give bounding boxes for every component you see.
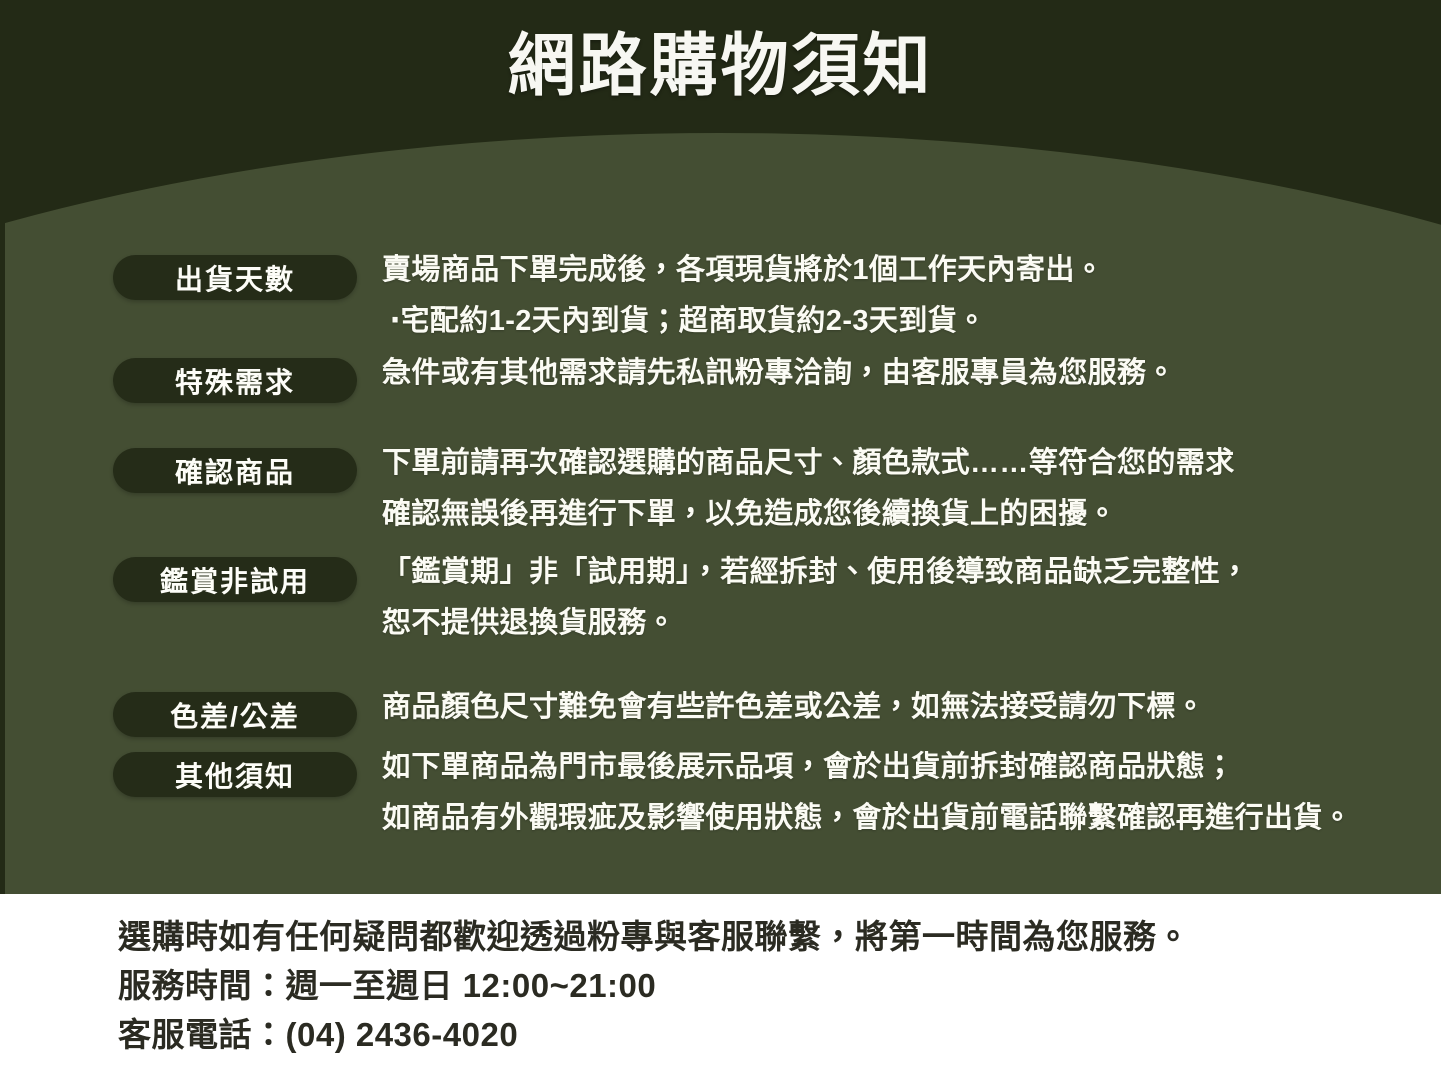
footer-service-hours: 服務時間：週一至週日 12:00~21:00	[118, 961, 1190, 1010]
section-body-line: 急件或有其他需求請先私訊粉專洽詢，由客服專員為您服務。	[382, 348, 1422, 399]
contact-footer-text: 選購時如有任何疑問都歡迎透過粉專與客服聯繫，將第一時間為您服務。 服務時間：週一…	[118, 912, 1190, 1059]
contact-footer: 選購時如有任何疑問都歡迎透過粉專與客服聯繫，將第一時間為您服務。 服務時間：週一…	[0, 894, 1441, 1080]
section-label-color-tolerance: 色差/公差	[113, 692, 357, 737]
section-body-line: 商品顏色尺寸難免會有些許色差或公差，如無法接受請勿下標。	[382, 682, 1422, 733]
notice-section-list: 出貨天數 賣場商品下單完成後，各項現貨將於1個工作天內寄出。 ‧宅配約1-2天內…	[0, 0, 1441, 894]
section-body-line: 確認無誤後再進行下單，以免造成您後續換貨上的困擾。	[382, 489, 1422, 540]
section-body-trial-period: 「鑑賞期」非「試用期」，若經拆封、使用後導致商品缺乏完整性， 恕不提供退換貨服務…	[382, 547, 1422, 649]
section-label-other: 其他須知	[113, 752, 357, 797]
section-label-shipping: 出貨天數	[113, 255, 357, 300]
page-title: 網路購物須知	[0, 26, 1441, 106]
footer-contact-line: 選購時如有任何疑問都歡迎透過粉專與客服聯繫，將第一時間為您服務。	[118, 912, 1190, 961]
section-body-special-request: 急件或有其他需求請先私訊粉專洽詢，由客服專員為您服務。	[382, 348, 1422, 399]
section-body-line: ‧宅配約1-2天內到貨；超商取貨約2-3天到貨。	[382, 296, 1422, 347]
section-body-line: 如商品有外觀瑕疵及影響使用狀態，會於出貨前電話聯繫確認再進行出貨。	[382, 793, 1422, 844]
section-body-line: 賣場商品下單完成後，各項現貨將於1個工作天內寄出。	[382, 245, 1422, 296]
section-body-shipping: 賣場商品下單完成後，各項現貨將於1個工作天內寄出。 ‧宅配約1-2天內到貨；超商…	[382, 245, 1422, 347]
section-label-confirm-product: 確認商品	[113, 448, 357, 493]
section-label-special-request: 特殊需求	[113, 358, 357, 403]
section-body-other: 如下單商品為門市最後展示品項，會於出貨前拆封確認商品狀態； 如商品有外觀瑕疵及影…	[382, 742, 1422, 844]
section-body-line: 「鑑賞期」非「試用期」，若經拆封、使用後導致商品缺乏完整性，	[382, 547, 1422, 598]
section-body-line: 恕不提供退換貨服務。	[382, 598, 1422, 649]
footer-service-phone: 客服電話：(04) 2436-4020	[118, 1010, 1190, 1059]
section-body-confirm-product: 下單前請再次確認選購的商品尺寸、顏色款式……等符合您的需求 確認無誤後再進行下單…	[382, 438, 1422, 540]
section-label-trial-period: 鑑賞非試用	[113, 557, 357, 602]
section-body-line: 下單前請再次確認選購的商品尺寸、顏色款式……等符合您的需求	[382, 438, 1422, 489]
section-body-line: 如下單商品為門市最後展示品項，會於出貨前拆封確認商品狀態；	[382, 742, 1422, 793]
notice-graphic: 網路購物須知 出貨天數 賣場商品下單完成後，各項現貨將於1個工作天內寄出。 ‧宅…	[0, 0, 1441, 1080]
section-body-color-tolerance: 商品顏色尺寸難免會有些許色差或公差，如無法接受請勿下標。	[382, 682, 1422, 733]
